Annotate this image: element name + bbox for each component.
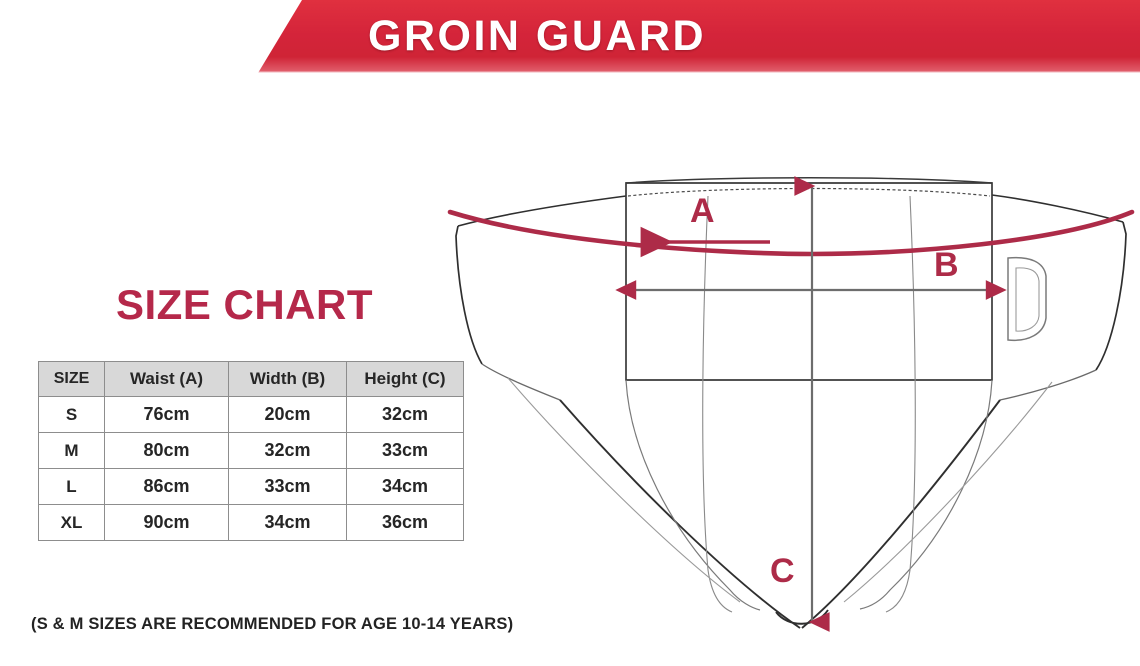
table-header-row: SIZE Waist (A) Width (B) Height (C)	[39, 362, 464, 397]
cell-waist: 86cm	[105, 469, 229, 505]
cell-size: S	[39, 397, 105, 433]
cell-width: 32cm	[229, 433, 347, 469]
cell-width: 33cm	[229, 469, 347, 505]
page-title: GROIN GUARD	[368, 8, 868, 64]
cell-width: 34cm	[229, 505, 347, 541]
right-wing-outline	[992, 195, 1123, 222]
left-wing-lower	[482, 364, 560, 400]
cup-inner-left	[626, 380, 760, 610]
cell-width: 20cm	[229, 397, 347, 433]
table-row: XL 90cm 34cm 36cm	[39, 505, 464, 541]
label-c: C	[770, 552, 795, 590]
left-wing-body	[456, 226, 482, 364]
waistband-top-seam	[628, 189, 990, 197]
label-b: B	[934, 246, 959, 284]
size-table-container: SIZE Waist (A) Width (B) Height (C) S 76…	[38, 361, 463, 541]
table-row: S 76cm 20cm 32cm	[39, 397, 464, 433]
cell-size: XL	[39, 505, 105, 541]
pouch-seam-right	[886, 196, 915, 612]
cup-outer-right	[802, 400, 1000, 628]
table-row: L 86cm 33cm 34cm	[39, 469, 464, 505]
cup-outer-left	[560, 400, 800, 628]
right-wing-body	[1096, 222, 1126, 370]
right-wing-seam	[844, 382, 1052, 602]
label-a: A	[690, 192, 715, 230]
size-table: SIZE Waist (A) Width (B) Height (C) S 76…	[38, 361, 464, 541]
strap-loop-icon	[1008, 258, 1046, 341]
cell-waist: 90cm	[105, 505, 229, 541]
column-header-width: Width (B)	[229, 362, 347, 397]
cell-waist: 76cm	[105, 397, 229, 433]
cell-waist: 80cm	[105, 433, 229, 469]
pouch-seam-left	[703, 196, 732, 612]
table-row: M 80cm 32cm 33cm	[39, 433, 464, 469]
size-chart-page: GROIN GUARD SIZE CHART SIZE Waist (A) Wi…	[0, 0, 1140, 666]
waist-measure-line-a	[450, 212, 1132, 254]
column-header-size: SIZE	[39, 362, 105, 397]
cell-size: L	[39, 469, 105, 505]
strap-loop-inner	[1016, 268, 1039, 331]
product-diagram: A B C	[440, 150, 1140, 640]
column-header-waist: Waist (A)	[105, 362, 229, 397]
cell-size: M	[39, 433, 105, 469]
size-chart-heading: SIZE CHART	[116, 281, 373, 329]
right-wing-lower	[1000, 370, 1096, 400]
left-wing-seam	[508, 378, 740, 602]
